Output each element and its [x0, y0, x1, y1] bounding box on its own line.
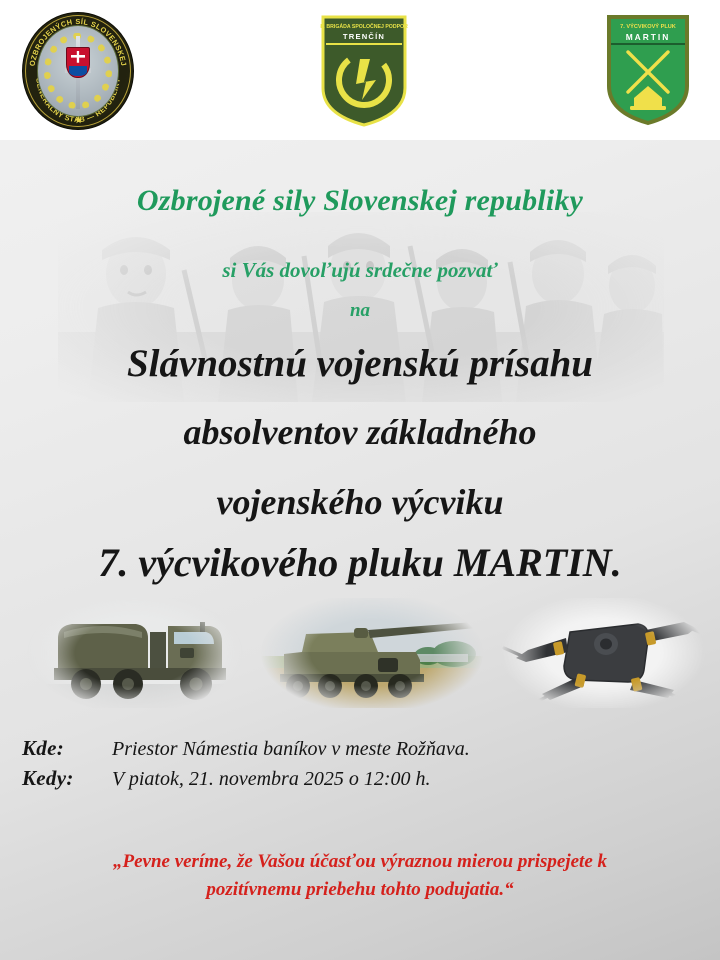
svg-text:MARTIN: MARTIN: [626, 32, 671, 42]
detail-label-time: Kedy:: [22, 766, 112, 791]
emblem-slovak-coat-of-arms-icon: [66, 47, 91, 78]
general-staff-emblem-icon: OZBROJENÝCH SÍL SLOVENSKEJ GENERÁLNY ŠTÁ…: [22, 12, 134, 130]
detail-label-place: Kde:: [22, 736, 112, 761]
quote-line-1: „Pevne veríme, že Vašou účasťou výraznou…: [113, 851, 607, 872]
closing-quote: „Pevne veríme, že Vašou účasťou výraznou…: [60, 848, 660, 903]
svg-text:TRENČÍN: TRENČÍN: [343, 32, 385, 41]
svg-text:7. VÝCVIKOVÝ PLUK: 7. VÝCVIKOVÝ PLUK: [620, 23, 676, 30]
organisation-title: Ozbrojené sily Slovenskej republiky: [0, 184, 720, 218]
military-truck-photo: [24, 598, 246, 708]
detail-value-place: Priestor Námestia baníkov v meste Rožňav…: [112, 738, 470, 761]
headline-line-1: Slávnostnú vojenskú prísahu: [0, 344, 720, 385]
detail-value-time: V piatok, 21. novembra 2025 o 12:00 h.: [112, 768, 431, 791]
headline-line-3: vojenského výcviku: [0, 484, 720, 521]
photo-row: [0, 598, 720, 716]
event-details: Kde: Priestor Námestia baníkov v meste R…: [22, 736, 582, 796]
training-regiment-shield-icon: 7. VÝCVIKOVÝ PLUK MARTIN: [606, 14, 690, 126]
headline-line-2: absolventov základného: [0, 414, 720, 451]
drone-photo: [498, 598, 708, 708]
invitation-line: si Vás dovoľujú srdečne pozvať: [0, 258, 720, 283]
support-brigade-shield-icon: SL. BRIGÁDA SPOLOČNEJ PODPORY TRENČÍN: [320, 14, 408, 128]
quote-line-2: pozitívnemu priebehu tohto podujatia.“: [60, 876, 660, 904]
detail-row-time: Kedy: V piatok, 21. novembra 2025 o 12:0…: [22, 766, 582, 796]
headline-line-4: 7. výcvikového pluku MARTIN.: [0, 542, 720, 584]
logo-row: OZBROJENÝCH SÍL SLOVENSKEJ GENERÁLNY ŠTÁ…: [0, 0, 720, 140]
svg-text:SL. BRIGÁDA SPOLOČNEJ PODPORY: SL. BRIGÁDA SPOLOČNEJ PODPORY: [320, 23, 408, 30]
self-propelled-howitzer-photo: [258, 598, 486, 708]
invitation-connector: na: [0, 300, 720, 322]
detail-row-place: Kde: Priestor Námestia baníkov v meste R…: [22, 736, 582, 766]
invitation-poster: OZBROJENÝCH SÍL SLOVENSKEJ GENERÁLNY ŠTÁ…: [0, 0, 720, 960]
